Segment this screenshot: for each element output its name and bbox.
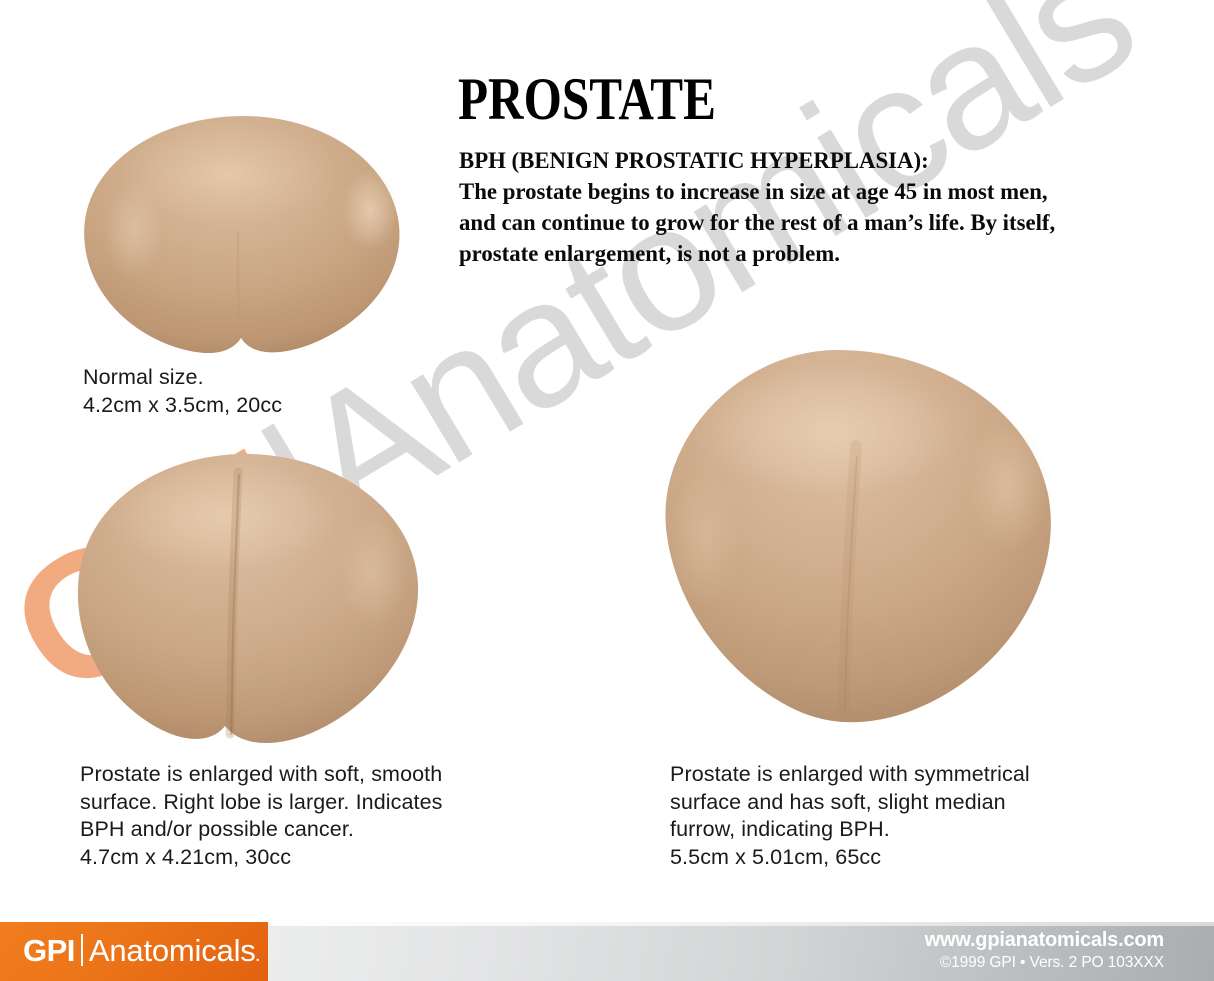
caption-line: Prostate is enlarged with soft, smooth [80,761,443,789]
specimen-enlarged-65cc-image [660,348,1060,740]
caption-line: surface and has soft, slight median [670,789,1030,817]
enlarged-30cc-right-lobe [233,454,418,743]
logo-divider-icon [81,934,83,966]
footer-orange-panel: GPIAnatomicals. [0,922,268,981]
caption-line: furrow, indicating BPH. [670,816,1030,844]
caption-line: 4.7cm x 4.21cm, 30cc [80,844,443,872]
footer-bar: GPIAnatomicals. www.gpianatomicals.com ©… [0,922,1214,981]
enlarged-65cc-rim-light [968,420,1048,552]
enlarged-prostate-65cc-illustration [660,348,1060,740]
caption-line: Normal size. [83,364,282,392]
caption-enlarged-30cc: Prostate is enlarged with soft, smooth s… [80,761,443,871]
caption-line: 5.5cm x 5.01cm, 65cc [670,844,1030,872]
enlarged-65cc-left-light [668,468,740,608]
caption-normal-prostate: Normal size. 4.2cm x 3.5cm, 20cc [83,364,282,419]
bph-heading: BPH (BENIGN PROSTATIC HYPERPLASIA): [459,146,1080,177]
website-url-link[interactable]: www.gpianatomicals.com [925,930,1164,950]
normal-prostate-illustration [78,112,408,360]
logo-registered-icon: . [256,948,260,965]
normal-prostate-left-light [104,182,164,278]
specimen-enlarged-30cc-image [73,452,423,752]
caption-line: surface. Right lobe is larger. Indicates [80,789,443,817]
page-title: PROSTATE [458,68,716,131]
bph-info-block: BPH (BENIGN PROSTATIC HYPERPLASIA): The … [459,146,1080,270]
specimen-normal-prostate-image [78,112,408,360]
footer-contact-block: www.gpianatomicals.com ©1999 GPI • Vers.… [925,930,1164,971]
normal-prostate-rim-light [342,170,398,250]
caption-line: Prostate is enlarged with symmetrical [670,761,1030,789]
copyright-notice: ©1999 GPI • Vers. 2 PO 103XXX [925,955,1164,971]
gpi-anatomicals-logo[interactable]: GPIAnatomicals. [23,934,260,966]
logo-brand-text: GPI [23,933,75,968]
caption-enlarged-65cc: Prostate is enlarged with symmetrical su… [670,761,1030,871]
enlarged-prostate-30cc-illustration [73,452,423,752]
poster-canvas: GPI|Anatomicals® PROSTATE BPH (BENIGN PR… [0,0,1214,981]
watermark-registered-icon: ® [1084,0,1155,11]
caption-line: BPH and/or possible cancer. [80,816,443,844]
bph-description: The prostate begins to increase in size … [459,177,1080,270]
caption-line: 4.2cm x 3.5cm, 20cc [83,392,282,420]
enlarged-65cc-highlight [692,364,968,496]
logo-product-text: Anatomicals [89,933,256,968]
